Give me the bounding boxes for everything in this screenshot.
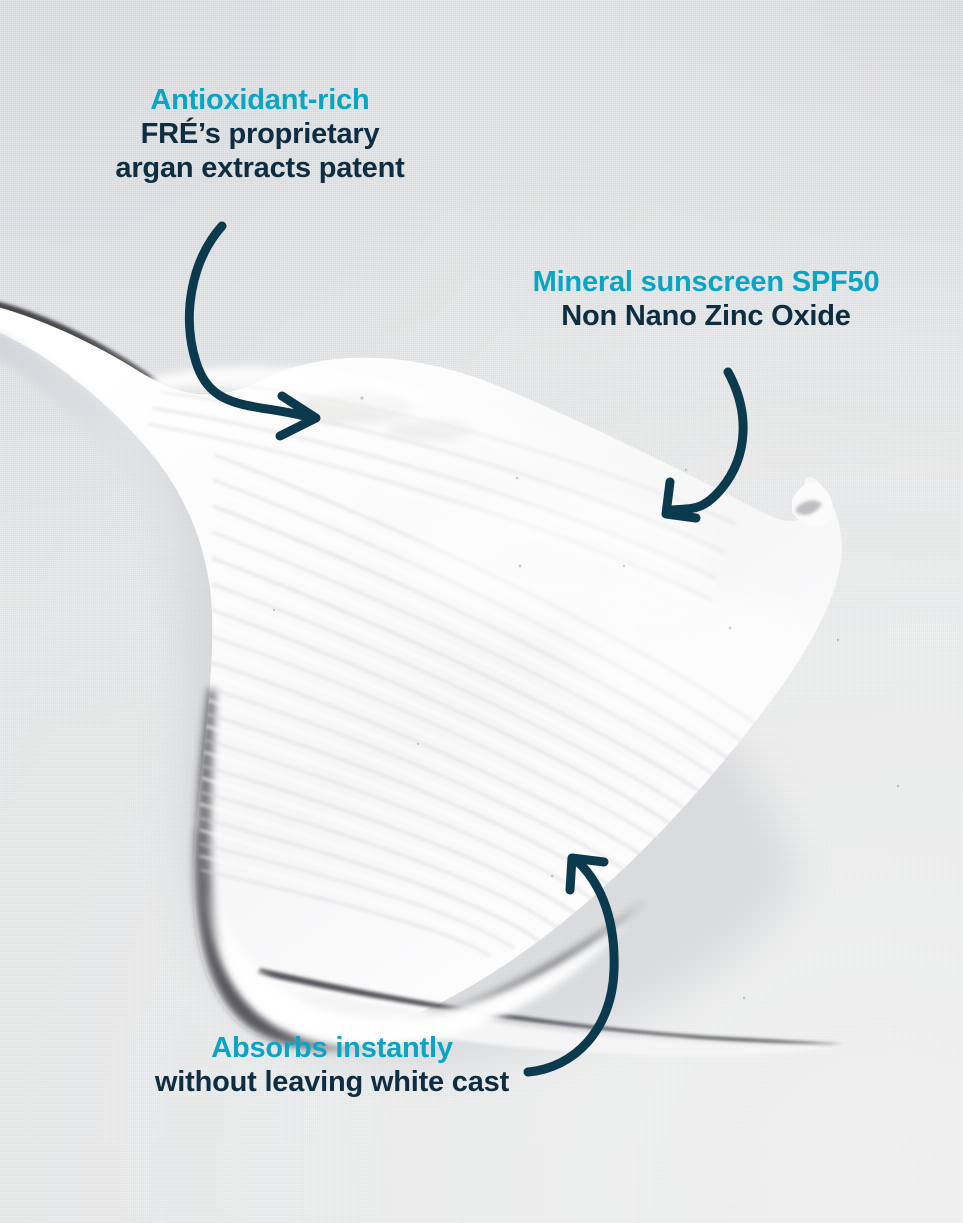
callout-antioxidant-headline: Antioxidant-rich <box>48 84 472 118</box>
callout-mineral-subline-1: Non Nano Zinc Oxide <box>462 300 950 334</box>
callout-absorbs-headline: Absorbs instantly <box>70 1032 594 1066</box>
callout-mineral: Mineral sunscreen SPF50 Non Nano Zinc Ox… <box>462 266 950 334</box>
callout-mineral-headline: Mineral sunscreen SPF50 <box>462 266 950 300</box>
callout-antioxidant-subline-2: argan extracts patent <box>48 152 472 186</box>
callout-antioxidant: Antioxidant-rich FRÉ’s proprietary argan… <box>48 84 472 186</box>
callout-antioxidant-subline-1: FRÉ’s proprietary <box>48 118 472 152</box>
callout-absorbs-subline-1: without leaving white cast <box>70 1066 594 1100</box>
infographic-canvas: Antioxidant-rich FRÉ’s proprietary argan… <box>0 0 963 1223</box>
callout-absorbs: Absorbs instantly without leaving white … <box>70 1032 594 1100</box>
